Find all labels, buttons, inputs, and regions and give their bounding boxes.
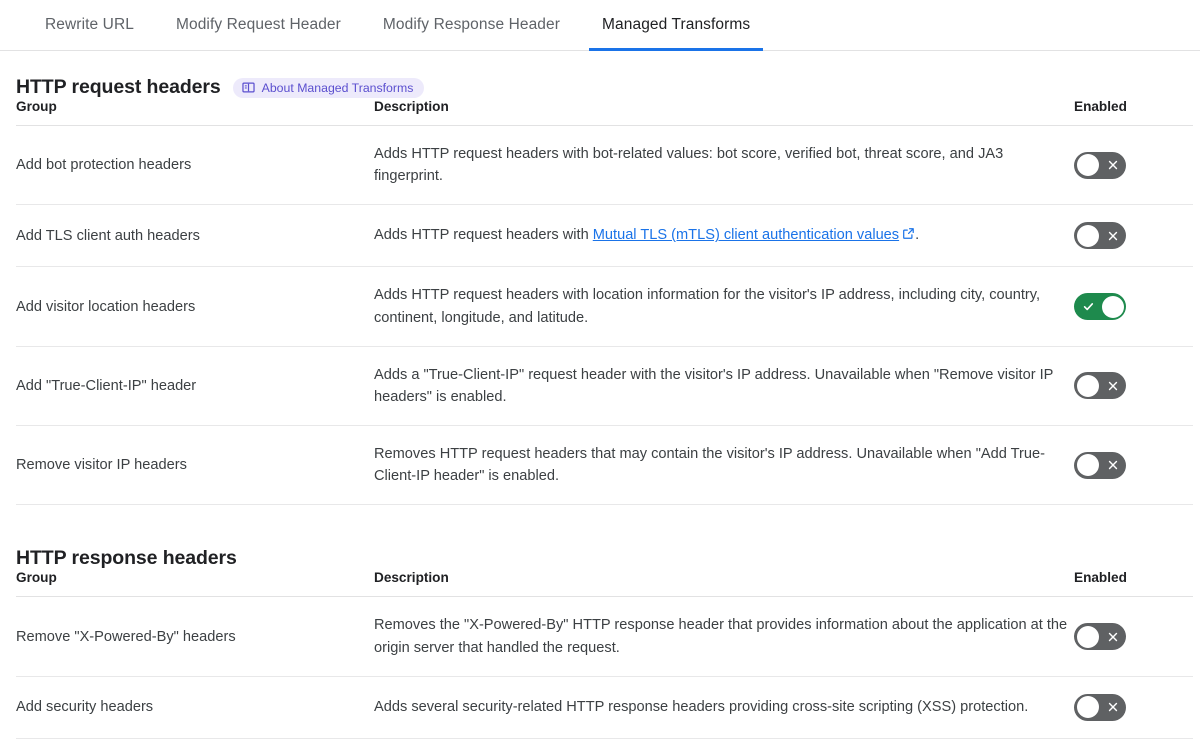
about-managed-transforms-badge[interactable]: About Managed Transforms (233, 78, 425, 98)
row-group-name: Add "True-Client-IP" header (16, 346, 374, 425)
column-header-group: Group (16, 99, 374, 126)
table-row: Remove "X-Powered-By" headersRemoves the… (16, 597, 1193, 676)
response-section-header: HTTP response headers (0, 547, 1200, 570)
request-section-header: HTTP request headers About Managed Trans… (0, 76, 1200, 99)
close-icon (1107, 694, 1119, 721)
toggle-knob (1077, 375, 1099, 397)
row-description: Adds a "True-Client-IP" request header w… (374, 346, 1074, 425)
badge-label: About Managed Transforms (262, 81, 414, 95)
row-description: Removes the "X-Powered-By" HTTP response… (374, 597, 1074, 676)
row-group-name: Add bot protection headers (16, 126, 374, 205)
toggle-knob (1077, 696, 1099, 718)
request-section-title: HTTP request headers (16, 76, 221, 99)
column-header-group: Group (16, 570, 374, 597)
description-text-prefix: Adds HTTP request headers with (374, 227, 593, 243)
table-header-row: Group Description Enabled (16, 570, 1193, 597)
row-enabled-cell (1074, 267, 1193, 346)
tab-label: Rewrite URL (45, 16, 134, 34)
row-description: Adds HTTP request headers with Mutual TL… (374, 205, 1074, 267)
table-row: Add "True-Client-IP" headerAdds a "True-… (16, 346, 1193, 425)
toggle-knob (1077, 454, 1099, 476)
check-icon (1082, 293, 1095, 320)
tab-bar: Rewrite URLModify Request HeaderModify R… (0, 0, 1200, 51)
row-description: Adds several security-related HTTP respo… (374, 676, 1074, 738)
toggle-switch-off[interactable] (1074, 222, 1126, 249)
toggle-switch-off[interactable] (1074, 152, 1126, 179)
row-group-name: Remove visitor IP headers (16, 426, 374, 505)
close-icon (1107, 623, 1119, 650)
close-icon (1107, 222, 1119, 249)
row-enabled-cell (1074, 346, 1193, 425)
row-enabled-cell (1074, 426, 1193, 505)
tab-rewrite-url[interactable]: Rewrite URL (24, 0, 155, 50)
tab-label: Managed Transforms (602, 16, 750, 34)
tab-modify-response-header[interactable]: Modify Response Header (362, 0, 581, 50)
toggle-switch-off[interactable] (1074, 452, 1126, 479)
tab-label: Modify Request Header (176, 16, 341, 34)
tab-managed-transforms[interactable]: Managed Transforms (581, 0, 771, 50)
close-icon (1107, 152, 1119, 179)
response-headers-table: Group Description Enabled Remove "X-Powe… (16, 570, 1193, 738)
toggle-switch-off[interactable] (1074, 372, 1126, 399)
row-enabled-cell (1074, 205, 1193, 267)
table-row: Add TLS client auth headersAdds HTTP req… (16, 205, 1193, 267)
toggle-knob (1077, 225, 1099, 247)
book-icon (242, 81, 255, 94)
table-row: Add security headersAdds several securit… (16, 676, 1193, 738)
toggle-switch-off[interactable] (1074, 694, 1126, 721)
row-group-name: Remove "X-Powered-By" headers (16, 597, 374, 676)
row-group-name: Add TLS client auth headers (16, 205, 374, 267)
table-header-row: Group Description Enabled (16, 99, 1193, 126)
toggle-knob (1102, 296, 1124, 318)
row-group-name: Add security headers (16, 676, 374, 738)
row-enabled-cell (1074, 676, 1193, 738)
toggle-switch-on[interactable] (1074, 293, 1126, 320)
row-description: Adds HTTP request headers with location … (374, 267, 1074, 346)
toggle-switch-off[interactable] (1074, 623, 1126, 650)
description-text-suffix: . (915, 227, 919, 243)
external-link-icon (902, 225, 915, 247)
row-description: Adds HTTP request headers with bot-relat… (374, 126, 1074, 205)
close-icon (1107, 452, 1119, 479)
toggle-knob (1077, 154, 1099, 176)
tab-modify-request-header[interactable]: Modify Request Header (155, 0, 362, 50)
http-response-headers-section: HTTP response headers Group Description … (0, 547, 1200, 738)
request-headers-table: Group Description Enabled Add bot protec… (16, 99, 1193, 505)
close-icon (1107, 372, 1119, 399)
http-request-headers-section: HTTP request headers About Managed Trans… (0, 76, 1200, 505)
column-header-description: Description (374, 570, 1074, 597)
response-section-title: HTTP response headers (16, 547, 237, 570)
table-row: Add bot protection headersAdds HTTP requ… (16, 126, 1193, 205)
row-enabled-cell (1074, 126, 1193, 205)
toggle-knob (1077, 626, 1099, 648)
mtls-documentation-link[interactable]: Mutual TLS (mTLS) client authentication … (593, 227, 899, 243)
row-description: Removes HTTP request headers that may co… (374, 426, 1074, 505)
column-header-enabled: Enabled (1074, 570, 1193, 597)
row-group-name: Add visitor location headers (16, 267, 374, 346)
tab-label: Modify Response Header (383, 16, 560, 34)
table-row: Add visitor location headersAdds HTTP re… (16, 267, 1193, 346)
column-header-enabled: Enabled (1074, 99, 1193, 126)
row-enabled-cell (1074, 597, 1193, 676)
column-header-description: Description (374, 99, 1074, 126)
table-row: Remove visitor IP headersRemoves HTTP re… (16, 426, 1193, 505)
